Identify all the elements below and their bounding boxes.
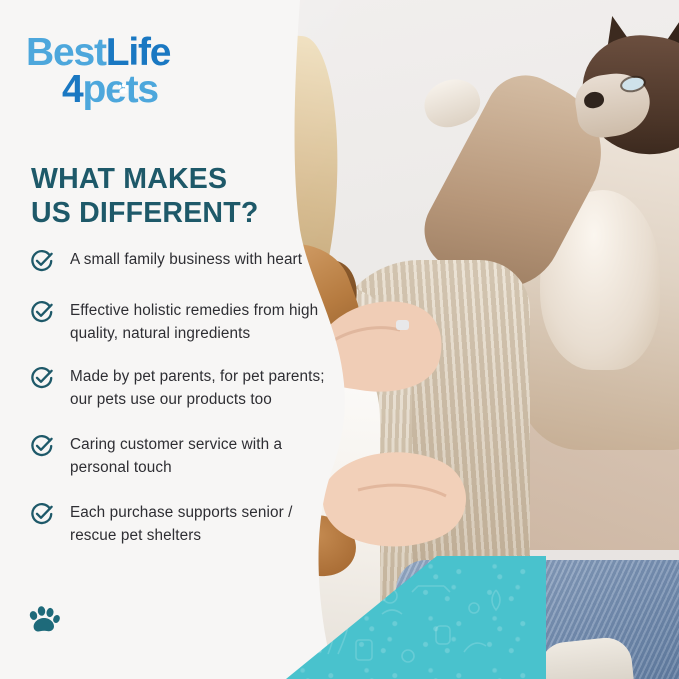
headline-line-1: WHAT MAKES (31, 163, 227, 195)
promo-image-canvas: BestLife 4pets WHAT MAKES US DIFFERENT? (0, 0, 679, 679)
list-item: Made by pet parents, for pet parents; ou… (30, 365, 350, 411)
list-item-label: Made by pet parents, for pet parents; ou… (70, 365, 338, 411)
brand-logo[interactable]: BestLife 4pets (26, 34, 226, 110)
check-circle-icon (30, 366, 54, 390)
logo-line-2: 4pets (62, 71, 226, 109)
paw-print-icon (26, 604, 62, 638)
list-item: Each purchase supports senior / rescue p… (30, 501, 350, 547)
check-circle-icon (30, 249, 54, 273)
check-circle-icon (30, 434, 54, 458)
paw-print-icon (116, 82, 131, 96)
list-item-label: A small family business with heart (70, 248, 302, 271)
list-item-label: Effective holistic remedies from high qu… (70, 299, 338, 345)
check-circle-icon (30, 300, 54, 324)
list-item: Caring customer service with a personal … (30, 433, 350, 479)
content-panel: BestLife 4pets WHAT MAKES US DIFFERENT? (0, 0, 340, 679)
benefits-list: A small family business with heart Effec… (30, 248, 350, 569)
list-item: A small family business with heart (30, 248, 350, 273)
list-item-label: Caring customer service with a personal … (70, 433, 338, 479)
list-item: Effective holistic remedies from high qu… (30, 299, 350, 345)
logo-line-1: BestLife (26, 34, 226, 71)
page-title: WHAT MAKES US DIFFERENT? (31, 162, 331, 230)
list-item-label: Each purchase supports senior / rescue p… (70, 501, 338, 547)
check-circle-icon (30, 502, 54, 526)
headline-line-2: US DIFFERENT? (31, 197, 258, 229)
logo-text-four: 4 (62, 68, 83, 111)
